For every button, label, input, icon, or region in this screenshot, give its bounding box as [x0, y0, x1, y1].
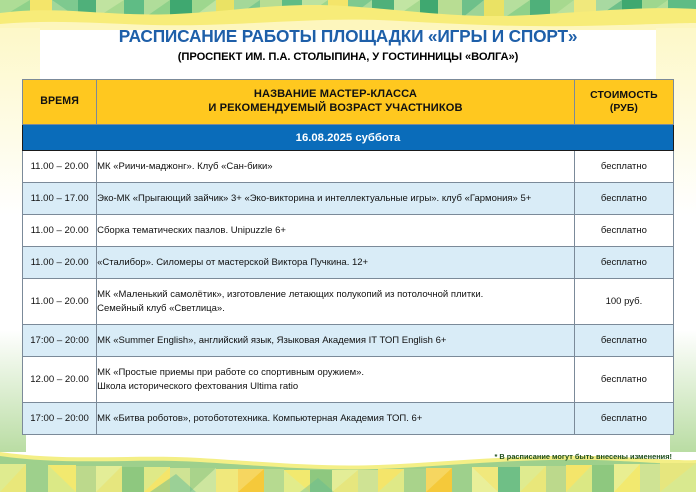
- row-time: 17:00 – 20:00: [23, 325, 97, 357]
- row-name: МК «Простые приемы при работе со спортив…: [97, 357, 575, 403]
- row-name: «Сталибор». Силомеры от мастерской Викто…: [97, 247, 575, 279]
- table-row: 11.00 – 20.00 МК «Маленький самолётик», …: [23, 279, 674, 325]
- row-time: 12.00 – 20.00: [23, 357, 97, 403]
- date-section-label: 16.08.2025 суббота: [23, 125, 674, 151]
- row-name-line2: Школа исторического фехтования Ultima ra…: [97, 380, 574, 394]
- row-price: бесплатно: [574, 151, 673, 183]
- table-body: 16.08.2025 суббота 11.00 – 20.00 МК «Рии…: [23, 125, 674, 435]
- row-name-line1: МК «Риичи-маджонг». Клуб «Сан-бики»: [97, 160, 574, 174]
- row-name-line1: Эко-МК «Прыгающий зайчик» 3+ «Эко-виктор…: [97, 192, 574, 206]
- table-row: 11.00 – 20.00 «Сталибор». Силомеры от ма…: [23, 247, 674, 279]
- row-time: 11.00 – 20.00: [23, 247, 97, 279]
- row-name: МК «Summer English», английский язык, Яз…: [97, 325, 575, 357]
- row-price: бесплатно: [574, 183, 673, 215]
- table-row: 17:00 – 20:00 МК «Summer English», англи…: [23, 325, 674, 357]
- row-name: МК «Битва роботов», ротобототехника. Ком…: [97, 403, 575, 435]
- page-title: РАСПИСАНИЕ РАБОТЫ ПЛОЩАДКИ «ИГРЫ И СПОРТ…: [0, 27, 696, 47]
- row-name: МК «Маленький самолётик», изготовление л…: [97, 279, 575, 325]
- column-header-price: СТОИМОСТЬ (РУБ): [574, 80, 673, 125]
- row-price: 100 руб.: [574, 279, 673, 325]
- table-row: 17:00 – 20:00 МК «Битва роботов», ротобо…: [23, 403, 674, 435]
- column-header-name-line1: НАЗВАНИЕ МАСТЕР-КЛАССА: [97, 88, 574, 102]
- row-price: бесплатно: [574, 247, 673, 279]
- row-price: бесплатно: [574, 325, 673, 357]
- row-name-line1: «Сталибор». Силомеры от мастерской Викто…: [97, 256, 574, 270]
- table-header: ВРЕМЯ НАЗВАНИЕ МАСТЕР-КЛАССА И РЕКОМЕНДУ…: [23, 80, 674, 125]
- row-name-line1: Сборка тематических пазлов. Unipuzzle 6+: [97, 224, 574, 238]
- row-time: 17:00 – 20:00: [23, 403, 97, 435]
- table-row: 12.00 – 20.00 МК «Простые приемы при раб…: [23, 357, 674, 403]
- row-name: МК «Риичи-маджонг». Клуб «Сан-бики»: [97, 151, 575, 183]
- schedule-table: ВРЕМЯ НАЗВАНИЕ МАСТЕР-КЛАССА И РЕКОМЕНДУ…: [22, 79, 674, 435]
- row-name-line1: МК «Битва роботов», ротобототехника. Ком…: [97, 412, 574, 426]
- column-header-price-line2: (РУБ): [575, 102, 673, 115]
- table-row: 11.00 – 17.00 Эко-МК «Прыгающий зайчик» …: [23, 183, 674, 215]
- row-time: 11.00 – 20.00: [23, 279, 97, 325]
- row-price: бесплатно: [574, 215, 673, 247]
- row-time: 11.00 – 20.00: [23, 215, 97, 247]
- column-header-name-line2: И РЕКОМЕНДУЕМЫЙ ВОЗРАСТ УЧАСТНИКОВ: [97, 102, 574, 116]
- row-name-line1: МК «Простые приемы при работе со спортив…: [97, 366, 574, 380]
- row-name: Сборка тематических пазлов. Unipuzzle 6+: [97, 215, 575, 247]
- row-price: бесплатно: [574, 357, 673, 403]
- table-row: 11.00 – 20.00 Сборка тематических пазлов…: [23, 215, 674, 247]
- row-time: 11.00 – 20.00: [23, 151, 97, 183]
- table-row: 11.00 – 20.00 МК «Риичи-маджонг». Клуб «…: [23, 151, 674, 183]
- table-header-row: ВРЕМЯ НАЗВАНИЕ МАСТЕР-КЛАССА И РЕКОМЕНДУ…: [23, 80, 674, 125]
- row-name-line2: Семейный клуб «Светлица».: [97, 302, 574, 316]
- column-header-time: ВРЕМЯ: [23, 80, 97, 125]
- page-subtitle: (ПРОСПЕКТ ИМ. П.А. СТОЛЫПИНА, У ГОСТИННИ…: [0, 51, 696, 63]
- schedule-footnote: * В расписание могут быть внесены измене…: [494, 452, 672, 461]
- row-time: 11.00 – 17.00: [23, 183, 97, 215]
- column-header-name: НАЗВАНИЕ МАСТЕР-КЛАССА И РЕКОМЕНДУЕМЫЙ В…: [97, 80, 575, 125]
- date-section-row: 16.08.2025 суббота: [23, 125, 674, 151]
- row-price: бесплатно: [574, 403, 673, 435]
- schedule-table-container: ВРЕМЯ НАЗВАНИЕ МАСТЕР-КЛАССА И РЕКОМЕНДУ…: [22, 79, 674, 435]
- row-name-line1: МК «Summer English», английский язык, Яз…: [97, 334, 574, 348]
- row-name: Эко-МК «Прыгающий зайчик» 3+ «Эко-виктор…: [97, 183, 575, 215]
- poster-heading-block: РАСПИСАНИЕ РАБОТЫ ПЛОЩАДКИ «ИГРЫ И СПОРТ…: [0, 27, 696, 63]
- row-name-line1: МК «Маленький самолётик», изготовление л…: [97, 288, 574, 302]
- column-header-price-line1: СТОИМОСТЬ: [575, 89, 673, 102]
